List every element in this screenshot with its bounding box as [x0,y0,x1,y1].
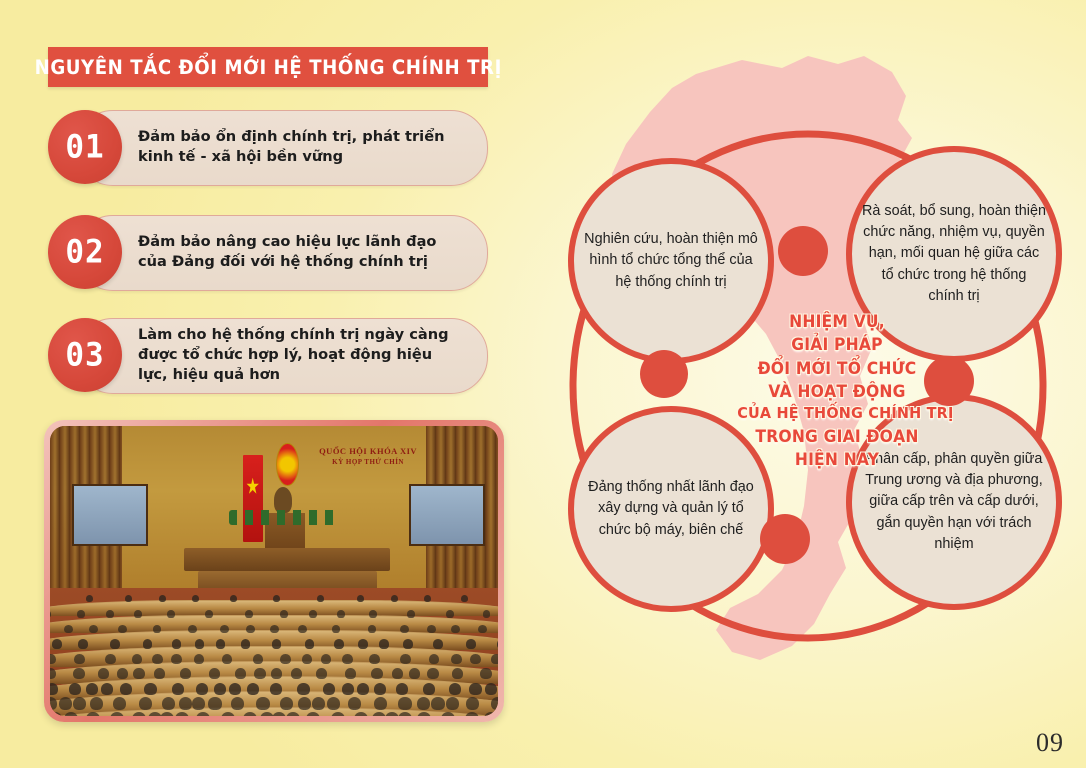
infographic-page: NGUYÊN TẮC ĐỔI MỚI HỆ THỐNG CHÍNH TRỊ 01… [0,0,1086,768]
hall-banner-text: QUỐC HỘI KHÓA XIV KỲ HỌP THỨ CHÍN [310,446,426,467]
connector-dot-top [778,226,828,276]
delegate-heads [50,711,498,716]
diagram-bubble-text: Đảng thống nhất lãnh đạo xây dựng và quả… [574,477,768,541]
page-title: NGUYÊN TẮC ĐỔI MỚI HỆ THỐNG CHÍNH TRỊ [34,56,501,79]
national-emblem-icon [276,443,299,486]
delegate-heads [50,653,498,664]
page-number: 09 [1036,728,1064,758]
hall-display-screen-left [72,484,148,546]
principle-item-1: 01 Đảm bảo ổn định chính trị, phát triển… [48,110,488,184]
principle-text-1: Đảm bảo ổn định chính trị, phát triển ki… [138,110,466,184]
principle-number-badge-2: 02 [48,215,122,289]
principle-number-badge-1: 01 [48,110,122,184]
principle-text-2: Đảm bảo nâng cao hiệu lực lãnh đạo của Đ… [138,215,466,289]
stage-plants [229,510,337,525]
assembly-photo-frame: QUỐC HỘI KHÓA XIV KỲ HỌP THỨ CHÍN [44,420,504,722]
principle-text-3: Làm cho hệ thống chính trị ngày càng đượ… [138,318,466,392]
principle-item-3: 03 Làm cho hệ thống chính trị ngày càng … [48,318,488,392]
principle-number: 02 [65,233,104,270]
delegate-heads [50,667,498,679]
connector-dot-bottom [760,514,810,564]
principle-item-2: 02 Đảm bảo nâng cao hiệu lực lãnh đạo củ… [48,215,488,289]
connector-dot-right [924,356,974,406]
diagram-bubble-top-right[interactable]: Rà soát, bổ sung, hoàn thiện chức năng, … [846,146,1062,362]
section-title-bar: NGUYÊN TẮC ĐỔI MỚI HỆ THỐNG CHÍNH TRỊ [48,47,488,87]
tasks-solutions-diagram: Nghiên cứu, hoàn thiện mô hình tổ chức t… [546,34,1066,694]
diagram-bubble-bottom-right[interactable]: Phân cấp, phân quyền giữa Trung ương và … [846,394,1062,610]
delegate-heads [50,638,498,648]
connector-dot-left [640,350,688,398]
presidium-desk-upper [184,548,390,571]
ho-chi-minh-bust [274,487,292,513]
hall-display-screen-right [409,484,485,546]
diagram-bubble-text: Phân cấp, phân quyền giữa Trung ương và … [852,449,1056,556]
hall-banner-line1: QUỐC HỘI KHÓA XIV [310,446,426,457]
principle-number-badge-3: 03 [48,318,122,392]
principle-number: 03 [65,336,104,373]
diagram-bubble-text: Rà soát, bổ sung, hoàn thiện chức năng, … [852,201,1056,308]
vietnam-flag-icon [243,455,264,542]
principle-number: 01 [65,128,104,165]
diagram-bubble-bottom-left[interactable]: Đảng thống nhất lãnh đạo xây dựng và quả… [568,406,774,612]
diagram-bubble-top-left[interactable]: Nghiên cứu, hoàn thiện mô hình tổ chức t… [568,158,774,364]
diagram-bubble-text: Nghiên cứu, hoàn thiện mô hình tổ chức t… [574,229,768,293]
delegate-heads [50,595,498,603]
delegate-heads [50,682,498,695]
assembly-photo: QUỐC HỘI KHÓA XIV KỲ HỌP THỨ CHÍN [50,426,498,716]
delegate-heads [50,696,498,710]
delegate-heads [50,609,498,617]
delegate-heads [50,624,498,633]
hall-banner-line2: KỲ HỌP THỨ CHÍN [310,458,426,467]
